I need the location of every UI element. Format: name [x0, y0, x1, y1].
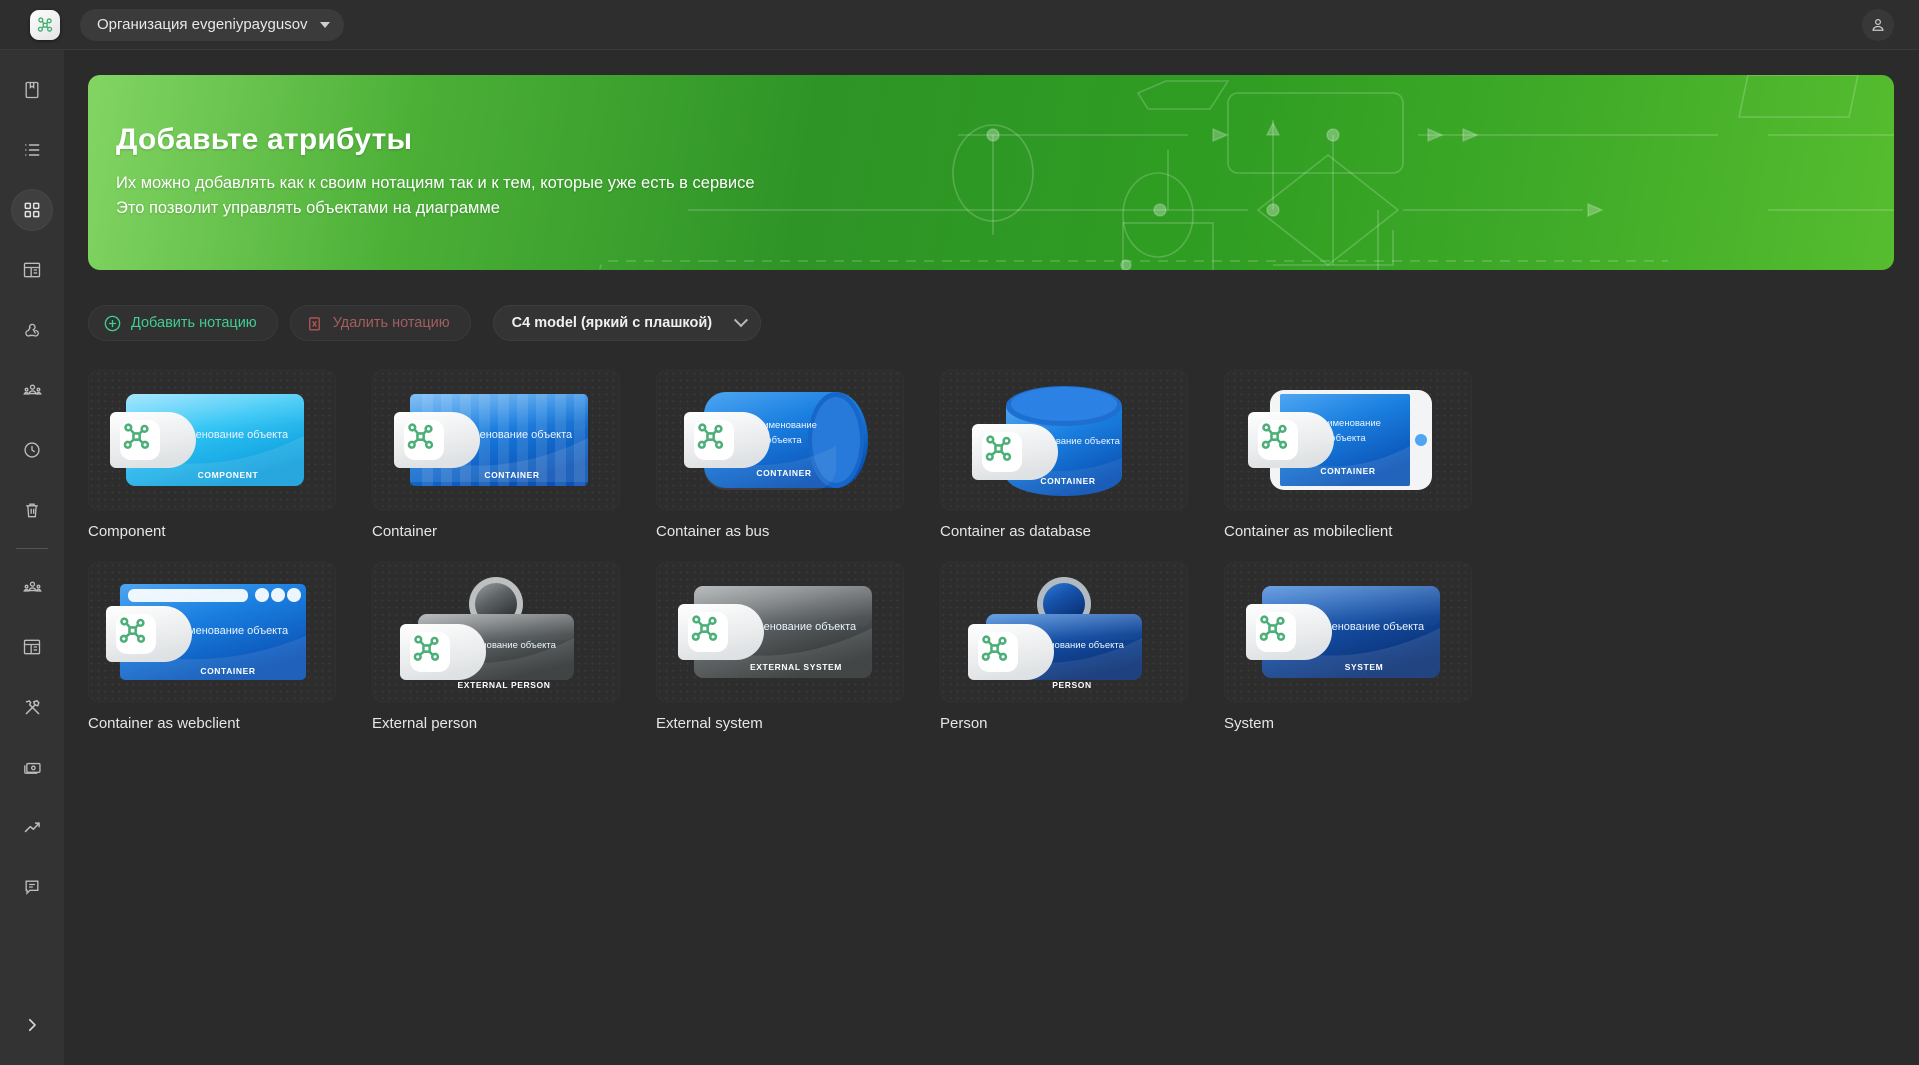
banner-text-block: Добавьте атрибуты Их можно добавлять как…: [116, 123, 755, 221]
team-people-icon: [22, 380, 43, 401]
notation-card[interactable]: Наименование объекта CONTAINER Container…: [940, 370, 1224, 540]
notation-thumbnail[interactable]: Наименование объекта EXTERNAL SYSTEM: [656, 562, 904, 702]
notation-preview-shape: Наименование объекта CONTAINER: [656, 370, 904, 510]
svg-text:EXTERNAL SYSTEM: EXTERNAL SYSTEM: [750, 662, 842, 672]
notations-toolbar: Добавить нотацию Удалить нотацию C4 mode…: [88, 305, 761, 341]
sidebar-item-analytics[interactable]: [12, 807, 52, 847]
notation-card[interactable]: Наименование объекта PERSON Person: [940, 562, 1224, 732]
notation-thumbnail[interactable]: Наименование объекта CONTAINER: [372, 370, 620, 510]
layout-dashboard-icon: [22, 260, 42, 280]
sidebar-item-support[interactable]: [12, 867, 52, 907]
notation-icon-badge: [106, 606, 192, 662]
svg-text:CONTAINER: CONTAINER: [756, 468, 811, 478]
svg-text:CONTAINER: CONTAINER: [484, 470, 539, 480]
add-notation-label: Добавить нотацию: [131, 315, 257, 331]
notation-thumbnail[interactable]: Наименование объекта EXTERNAL PERSON: [372, 562, 620, 702]
sidebar-item-organization[interactable]: [12, 627, 52, 667]
sidebar-item-tools[interactable]: [12, 687, 52, 727]
billing-card-icon: [22, 757, 43, 778]
notation-card[interactable]: Наименование объекта EXTERNAL PERSON Ext…: [372, 562, 656, 732]
promo-banner: Добавьте атрибуты Их можно добавлять как…: [88, 75, 1894, 270]
notation-thumbnail[interactable]: Наименование объекта COMPONENT: [88, 370, 336, 510]
notation-icon-badge: [968, 624, 1054, 680]
sidebar-item-trash[interactable]: [12, 490, 52, 530]
team-people-icon: [22, 577, 43, 598]
graph-node-logo-icon: [35, 15, 55, 35]
notation-preview-shape: Наименование объекта SYSTEM: [1224, 562, 1472, 702]
notation-thumbnail[interactable]: Наименование объекта CONTAINER: [88, 562, 336, 702]
sidebar-item-members[interactable]: [12, 567, 52, 607]
notation-card-label: External person: [372, 715, 656, 732]
chevron-down-icon: [734, 313, 748, 327]
notation-preview-shape: Наименование объекта CONTAINER: [1224, 370, 1472, 510]
chevron-right-icon: [23, 1016, 41, 1034]
notation-preview-shape: Наименование объекта CONTAINER: [88, 562, 336, 702]
notation-preview-shape: Наименование объекта CONTAINER: [372, 370, 620, 510]
building-org-icon: [22, 637, 42, 657]
notation-thumbnail[interactable]: Наименование объекта CONTAINER: [656, 370, 904, 510]
bookmark-book-icon: [22, 80, 42, 100]
sidebar-item-documents[interactable]: [12, 70, 52, 110]
banner-title: Добавьте атрибуты: [116, 123, 755, 157]
banner-subtitle-line-1: Их можно добавлять как к своим нотациям …: [116, 171, 755, 196]
tools-hammer-icon: [22, 697, 43, 718]
user-avatar-button[interactable]: [1862, 9, 1894, 41]
svg-text:EXTERNAL PERSON: EXTERNAL PERSON: [458, 680, 551, 690]
notation-card[interactable]: Наименование объекта CONTAINER Container…: [656, 370, 940, 540]
main-content: Добавьте атрибуты Их можно добавлять как…: [64, 50, 1919, 1065]
notation-card[interactable]: Наименование объекта EXTERNAL SYSTEM Ext…: [656, 562, 940, 732]
caret-down-icon: [320, 22, 330, 28]
svg-text:CONTAINER: CONTAINER: [1040, 476, 1095, 486]
user-avatar-icon: [1869, 16, 1887, 34]
plus-circle-icon: [103, 314, 122, 333]
trash-icon: [22, 500, 42, 520]
svg-text:COMPONENT: COMPONENT: [198, 470, 259, 480]
notation-preview-shape: Наименование объекта PERSON: [940, 562, 1188, 702]
sidebar-item-list[interactable]: [12, 130, 52, 170]
sidebar-item-history[interactable]: [12, 430, 52, 470]
sidebar-item-notations[interactable]: [12, 190, 52, 230]
delete-notation-label: Удалить нотацию: [333, 315, 450, 331]
notation-thumbnail[interactable]: Наименование объекта PERSON: [940, 562, 1188, 702]
notation-card-label: Container as database: [940, 523, 1224, 540]
organization-selector[interactable]: Организация evgeniypaygusov: [80, 9, 344, 41]
svg-text:CONTAINER: CONTAINER: [200, 666, 255, 676]
banner-subtitle-line-2: Это позволит управлять объектами на диаг…: [116, 196, 755, 221]
top-bar: Организация evgeniypaygusov: [0, 0, 1919, 50]
svg-text:SYSTEM: SYSTEM: [1345, 662, 1384, 672]
grid-apps-icon: [22, 200, 42, 220]
sidebar-expand-button[interactable]: [12, 1005, 52, 1045]
notation-thumbnail[interactable]: Наименование объекта CONTAINER: [940, 370, 1188, 510]
notation-preview-shape: Наименование объекта CONTAINER: [940, 370, 1188, 510]
notation-thumbnail[interactable]: Наименование объекта CONTAINER: [1224, 370, 1472, 510]
svg-text:CONTAINER: CONTAINER: [1320, 466, 1375, 476]
notation-card-label: Container as mobileclient: [1224, 523, 1508, 540]
notation-card-label: Person: [940, 715, 1224, 732]
delete-notation-button[interactable]: Удалить нотацию: [290, 305, 471, 341]
notation-card-label: Component: [88, 523, 372, 540]
notation-card[interactable]: Наименование объекта CONTAINER Container: [372, 370, 656, 540]
notation-card-label: Container: [372, 523, 656, 540]
trending-up-icon: [22, 817, 43, 838]
app-logo[interactable]: [30, 10, 60, 40]
sidebar-item-billing[interactable]: [12, 747, 52, 787]
organization-label: Организация evgeniypaygusov: [97, 16, 308, 33]
notation-card[interactable]: Наименование объекта CONTAINER Container…: [1224, 370, 1508, 540]
notation-icon-badge: [110, 412, 196, 468]
chat-message-icon: [22, 877, 42, 897]
sidebar-divider: [16, 548, 48, 549]
notation-icon-badge: [678, 604, 764, 660]
notation-card[interactable]: Наименование объекта SYSTEM System: [1224, 562, 1508, 732]
notation-icon-badge: [972, 424, 1058, 480]
notation-icon-badge: [1246, 604, 1332, 660]
clock-history-icon: [22, 440, 42, 460]
notation-card-label: System: [1224, 715, 1508, 732]
add-notation-button[interactable]: Добавить нотацию: [88, 305, 278, 341]
notation-card[interactable]: Наименование объекта COMPONENT Component: [88, 370, 372, 540]
sidebar-item-layouts[interactable]: [12, 250, 52, 290]
notation-card-label: Container as bus: [656, 523, 940, 540]
notation-card[interactable]: Наименование объекта CONTAINER Container…: [88, 562, 372, 732]
webhook-icon: [22, 320, 42, 340]
svg-text:объекта: объекта: [766, 435, 802, 446]
notation-preview-shape: Наименование объекта EXTERNAL SYSTEM: [656, 562, 904, 702]
notation-icon-badge: [400, 624, 486, 680]
sidebar: [0, 50, 64, 1065]
notation-select[interactable]: C4 model (яркий с плашкой): [493, 305, 761, 341]
notation-icon-badge: [684, 412, 770, 468]
notation-card-label: External system: [656, 715, 940, 732]
notation-preview-shape: Наименование объекта COMPONENT: [88, 370, 336, 510]
notation-cards-grid: Наименование объекта COMPONENT Component: [88, 370, 1878, 732]
sidebar-item-teams[interactable]: [12, 370, 52, 410]
sidebar-item-integrations[interactable]: [12, 310, 52, 350]
notation-select-value: C4 model (яркий с плашкой): [512, 315, 712, 331]
notation-icon-badge: [1248, 412, 1334, 468]
svg-text:PERSON: PERSON: [1052, 680, 1092, 690]
trash-x-icon: [305, 314, 324, 333]
svg-text:объекта: объекта: [1330, 433, 1366, 444]
list-icon: [22, 140, 42, 160]
notation-card-label: Container as webclient: [88, 715, 372, 732]
notation-preview-shape: Наименование объекта EXTERNAL PERSON: [372, 562, 620, 702]
notation-icon-badge: [394, 412, 480, 468]
notation-thumbnail[interactable]: Наименование объекта SYSTEM: [1224, 562, 1472, 702]
